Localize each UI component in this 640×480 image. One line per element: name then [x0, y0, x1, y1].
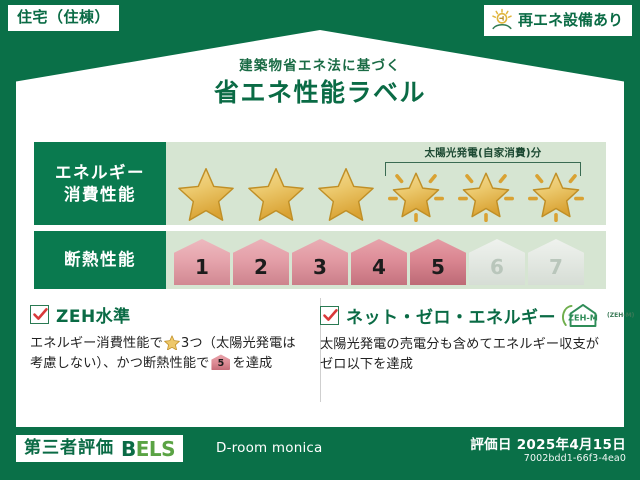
insulation-level-value: 2	[233, 239, 289, 285]
insulation-level-1: 1	[174, 239, 230, 285]
star-item	[312, 165, 380, 223]
zeh-m-logo-sub: (ZEH-M)	[607, 312, 634, 319]
svg-text:ZEH-M: ZEH-M	[568, 312, 598, 322]
energy-label-line1: エネルギー	[55, 162, 145, 184]
zeh-text-part1: エネルギー消費性能で	[30, 336, 163, 351]
criterion-header: ネット・ゼロ・エネルギー ZEH-M (ZEH-M)	[320, 302, 610, 328]
net-zero-energy-title: ネット・ゼロ・エネルギー	[346, 303, 556, 328]
bels-logo-part2: ELS	[136, 437, 175, 461]
evaluation-id: 7002bdd1-66f3-4ea0	[524, 453, 626, 464]
insulation-level-value: 5	[410, 239, 466, 285]
insulation-level-7: 7	[528, 239, 584, 285]
check-icon	[322, 307, 339, 324]
insulation-level-4: 4	[351, 239, 407, 285]
insulation-level-value: 4	[351, 239, 407, 285]
sun-renewable-icon	[490, 8, 514, 32]
star-icon	[247, 166, 305, 222]
criterion-header: ZEH水準	[30, 302, 302, 327]
insulation-level-group: 1 2 3 4 5	[174, 235, 584, 285]
insulation-level-5: 5	[410, 239, 466, 285]
label-body-panel: 建築物省エネ法に基づく 省エネ性能ラベル エネルギー 消費性能 太陽光発電(自家…	[16, 86, 624, 427]
star-item	[242, 165, 310, 223]
criterion-zeh-level: ZEH水準 エネルギー消費性能で3つ（太陽光発電は考慮しない）、かつ断熱性能で5…	[30, 302, 302, 376]
insulation-performance-panel: 1 2 3 4 5	[166, 231, 606, 289]
bels-third-party-label: 第三者評価	[24, 440, 114, 457]
zeh-level-title: ZEH水準	[56, 302, 131, 327]
page-title: 省エネ性能ラベル	[16, 77, 624, 108]
check-icon	[32, 306, 49, 323]
zeh-m-logo: ZEH-M (ZEH-M)	[561, 302, 634, 328]
house-type-badge: 住宅（住棟）	[8, 5, 119, 31]
insulation-level-value: 1	[174, 239, 230, 285]
zeh-level-description: エネルギー消費性能で3つ（太陽光発電は考慮しない）、かつ断熱性能で5を達成	[30, 334, 302, 375]
insulation-level-value: 6	[469, 239, 525, 285]
insulation-level-3: 3	[292, 239, 348, 285]
energy-performance-stars-panel: 太陽光発電(自家消費)分	[166, 142, 606, 225]
zeh-m-house-icon: ZEH-M	[561, 302, 605, 328]
building-name: D-room monica	[216, 440, 323, 456]
inline-house-value: 5	[211, 354, 230, 370]
energy-performance-label: 住宅（住棟） 再エネ設備あり 建築物省エネ法に基づく 省エネ性能ラベル	[0, 0, 640, 480]
inline-star-icon	[164, 335, 180, 351]
star-icon	[317, 166, 375, 222]
evaluation-date: 評価日 2025年4月15日	[470, 433, 626, 453]
star-item	[172, 165, 240, 223]
energy-label-line2: 消費性能	[64, 184, 136, 206]
insulation-level-value: 7	[528, 239, 584, 285]
zeh-text-part3: を達成	[232, 356, 272, 371]
net-zero-energy-description: 太陽光発電の売電分も含めてエネルギー収支がゼロ以下を達成	[320, 335, 610, 376]
energy-performance-label-box: エネルギー 消費性能	[34, 142, 166, 225]
title-subtitle: 建築物省エネ法に基づく	[16, 58, 624, 74]
energy-performance-row: エネルギー 消費性能 太陽光発電(自家消費)分	[34, 142, 606, 225]
bels-logo: BELS	[121, 439, 175, 459]
insulation-level-6: 6	[469, 239, 525, 285]
footer-band: 第三者評価 BELS D-room monica 評価日 2025年4月15日 …	[0, 427, 640, 480]
insulation-performance-label-box: 断熱性能	[34, 231, 166, 289]
zeh-level-checkbox[interactable]	[30, 305, 49, 324]
insulation-level-2: 2	[233, 239, 289, 285]
title-block: 建築物省エネ法に基づく 省エネ性能ラベル	[16, 58, 624, 108]
bels-badge: 第三者評価 BELS	[16, 435, 183, 462]
renewable-badge-label: 再エネ設備あり	[518, 12, 623, 29]
house-type-badge-label: 住宅（住棟）	[17, 8, 110, 26]
inline-house-icon: 5	[211, 354, 230, 370]
insulation-label: 断熱性能	[64, 249, 136, 271]
renewable-equipment-badge: 再エネ設備あり	[484, 5, 632, 36]
criteria-section: ZEH水準 エネルギー消費性能で3つ（太陽光発電は考慮しない）、かつ断熱性能で5…	[30, 302, 610, 376]
criterion-net-zero-energy: ネット・ゼロ・エネルギー ZEH-M (ZEH-M) 太陽光発電の売電分も含めて…	[320, 302, 610, 376]
insulation-performance-row: 断熱性能 1 2 3	[34, 231, 606, 289]
star-icon	[177, 166, 235, 222]
solar-bracket	[385, 162, 581, 176]
bels-logo-part1: B	[121, 437, 136, 461]
solar-bracket-label: 太陽光発電(自家消費)分	[376, 145, 590, 160]
zeh-star-count: 3つ	[181, 336, 203, 351]
net-zero-energy-checkbox[interactable]	[320, 306, 339, 325]
insulation-level-value: 3	[292, 239, 348, 285]
